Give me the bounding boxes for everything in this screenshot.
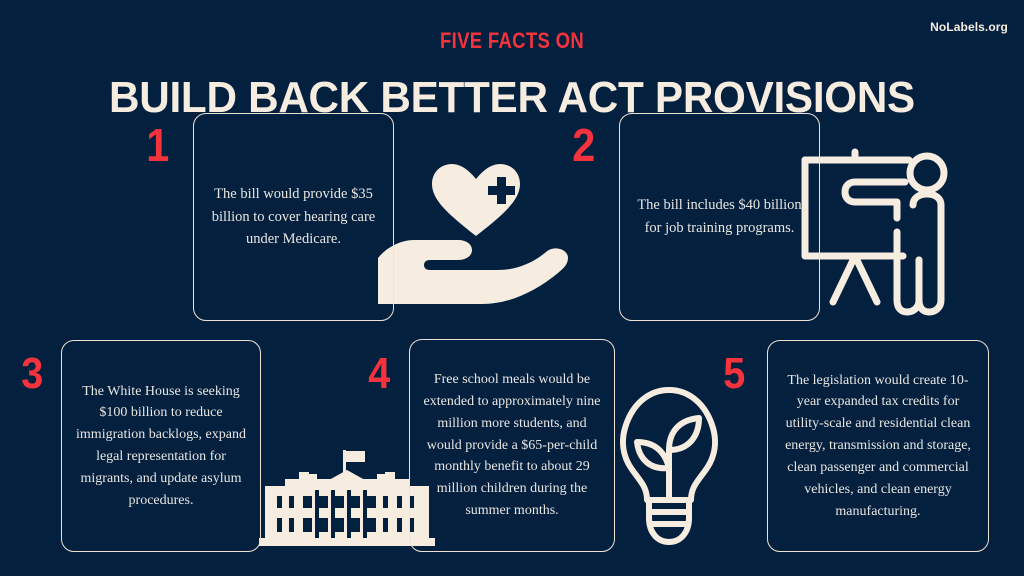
page-title: BUILD BACK BETTER ACT PROVISIONS <box>20 73 1003 123</box>
job-training-presenter-icon <box>793 140 975 326</box>
eco-lightbulb-icon <box>605 378 733 554</box>
infographic-page: NoLabels.org FIVE FACTS ON BUILD BACK BE… <box>0 0 1024 576</box>
fact-number-4: 4 <box>368 352 390 396</box>
fact-number-1: 1 <box>146 122 169 168</box>
fact-card-1-text: The bill would provide $35 billion to co… <box>194 183 393 251</box>
eyebrow-label: FIVE FACTS ON <box>82 28 942 54</box>
heart-in-hand-icon <box>378 148 574 304</box>
fact-card-5-text: The legislation would create 10-year exp… <box>768 370 988 523</box>
fact-number-3: 3 <box>21 352 43 396</box>
fact-card-2: The bill includes $40 billion for job tr… <box>619 113 820 321</box>
fact-card-2-text: The bill includes $40 billion for job tr… <box>620 194 819 239</box>
fact-card-4: Free school meals would be extended to a… <box>409 339 615 552</box>
fact-card-1: The bill would provide $35 billion to co… <box>193 113 394 321</box>
fact-number-5: 5 <box>723 352 745 396</box>
fact-card-3-text: The White House is seeking $100 billion … <box>62 381 260 512</box>
fact-number-2: 2 <box>572 122 595 168</box>
fact-card-5: The legislation would create 10-year exp… <box>767 340 989 552</box>
fact-card-4-text: Free school meals would be extended to a… <box>410 369 614 522</box>
fact-card-3: The White House is seeking $100 billion … <box>61 340 261 552</box>
